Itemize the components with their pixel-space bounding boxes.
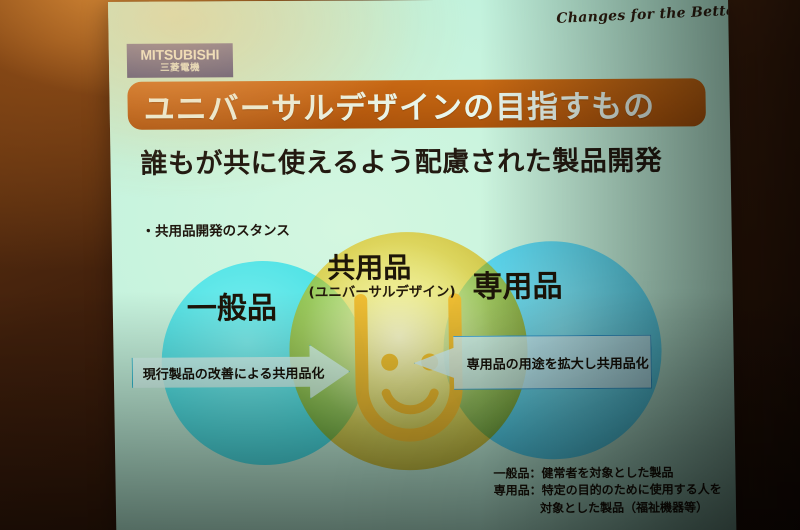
screenshot-stage: Changes for the Better MITSUBISHI 三菱電機 ユ… xyxy=(0,0,800,530)
room-vignette xyxy=(0,0,800,530)
